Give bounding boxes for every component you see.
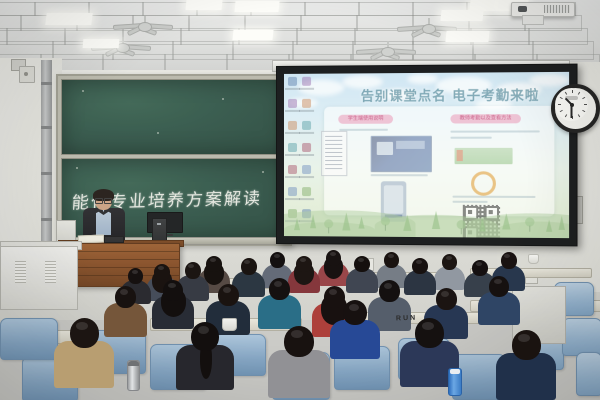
hair-highlight — [504, 254, 510, 258]
hair-highlight — [358, 258, 364, 262]
slide-tree-trunk — [529, 226, 530, 232]
classroom-photo: 能化专业培养方案解读 告别课堂点名 电子考勤来啦 学生端使用说明 — [0, 0, 600, 400]
clock-tick — [558, 104, 561, 105]
hair-highlight — [384, 283, 392, 289]
desktop-icon-label — [299, 88, 314, 90]
hair-highlight — [198, 326, 209, 334]
clock-tick — [577, 114, 579, 117]
desktop-icon[interactable] — [288, 77, 297, 86]
slide-tree-trunk — [385, 225, 386, 231]
clock-tick — [572, 90, 573, 93]
slide-tree — [403, 215, 411, 231]
fan-hub — [422, 24, 436, 34]
slide-content-card: 学生端使用说明 教师考勤以及查看方法 — [324, 106, 554, 217]
slide-context-menu — [321, 131, 347, 176]
desktop-icon-label — [285, 176, 300, 178]
wall-clock — [551, 84, 600, 133]
student-torso — [268, 350, 330, 398]
hair-highlight — [329, 289, 337, 295]
slide-tree — [342, 212, 350, 230]
ceiling-tile — [358, 2, 414, 16]
student-torso — [330, 320, 380, 359]
desktop-icon[interactable] — [302, 165, 311, 174]
student — [176, 322, 234, 396]
hair-highlight — [349, 304, 359, 311]
ceiling-light-panel — [445, 31, 489, 42]
hair-highlight — [476, 262, 482, 266]
paper-cup — [222, 318, 237, 331]
clock-tick — [577, 92, 579, 95]
empty-chair[interactable] — [562, 318, 600, 356]
student — [496, 330, 556, 400]
clock-tick — [564, 92, 566, 95]
desktop-icon-label — [285, 198, 300, 200]
slide-clouds — [284, 72, 569, 74]
slide-left-caption — [371, 174, 428, 176]
hair-highlight — [244, 260, 250, 264]
projector-vent — [544, 5, 570, 13]
desktop-icon[interactable] — [302, 187, 311, 196]
ceiling-tile — [88, 2, 144, 16]
clock-minute-hand — [571, 105, 573, 118]
desktop-icon-label — [285, 132, 300, 134]
student-torso — [496, 353, 556, 400]
desktop-icon[interactable] — [302, 121, 311, 130]
slide-tree — [559, 216, 565, 230]
ceiling-light-panel — [232, 30, 273, 40]
desktop-icon-label — [285, 88, 300, 90]
desktop-icon-label — [299, 132, 314, 134]
hair-highlight — [132, 270, 138, 274]
student — [330, 300, 380, 364]
ceiling-tile — [304, 2, 360, 16]
ceiling-light-panel — [234, 1, 279, 12]
hair-highlight — [422, 322, 434, 330]
hair-highlight — [518, 334, 530, 342]
ceiling-light-panel — [185, 0, 222, 10]
clock-face — [555, 88, 588, 121]
hair-highlight — [291, 330, 303, 338]
slide-right-note-1 — [450, 130, 539, 132]
hair-highlight — [274, 254, 280, 258]
slide-tree — [479, 217, 485, 231]
slide-right-note-2 — [450, 137, 491, 139]
hair-highlight — [120, 289, 128, 295]
desktop-icon[interactable] — [288, 143, 297, 152]
thermos-bottle — [127, 360, 140, 391]
student — [54, 318, 114, 395]
metal-cabinet — [0, 246, 78, 310]
desktop-icon[interactable] — [288, 187, 297, 196]
student — [478, 276, 520, 330]
slide-left-badge: 学生端使用说明 — [338, 115, 393, 124]
empty-chair[interactable] — [576, 352, 600, 396]
slide-tree-trunk — [328, 227, 329, 233]
fan-hub — [381, 47, 395, 57]
cable-conduit — [41, 60, 52, 255]
slide-tree — [432, 211, 440, 229]
student-torso — [54, 341, 114, 388]
slide-qr-caption-1 — [452, 196, 535, 198]
desktop-icon[interactable] — [288, 121, 297, 130]
clock-tick — [559, 110, 562, 112]
desktop-icon-label — [299, 110, 314, 112]
hair-highlight — [76, 322, 88, 330]
jacket-text: RUN — [396, 315, 417, 323]
hair-highlight — [446, 256, 452, 260]
slide-tree — [546, 220, 552, 232]
clock-tick — [564, 114, 566, 117]
wall-sensor-box — [19, 66, 35, 83]
clock-center-pin — [570, 103, 574, 107]
clock-tick — [559, 97, 562, 99]
hair-highlight — [188, 264, 194, 268]
projection-screen: 告别课堂点名 电子考勤来啦 学生端使用说明 — [284, 72, 569, 238]
slide-progress-ring — [471, 171, 496, 196]
clock-tick — [582, 110, 585, 112]
podium-notebook — [104, 236, 124, 243]
fan-hub — [138, 22, 152, 32]
hair-highlight — [300, 258, 306, 262]
hair-highlight — [388, 254, 394, 258]
desktop-icon-label — [299, 198, 314, 200]
slide-tree — [294, 218, 300, 230]
blackboard-upper-panel — [61, 79, 287, 155]
hair-highlight — [158, 266, 164, 270]
desktop-icon-label — [299, 154, 314, 156]
hair-highlight — [441, 291, 449, 297]
clock-tick — [582, 97, 585, 99]
student — [268, 326, 330, 400]
desktop-icon[interactable] — [288, 99, 297, 108]
chair-back — [0, 318, 58, 360]
student-torso — [258, 295, 301, 329]
cloud — [407, 74, 438, 84]
desktop-icon[interactable] — [288, 165, 297, 174]
hair-highlight — [168, 283, 176, 288]
water-bottle — [448, 368, 462, 396]
paper-cup — [528, 254, 539, 264]
student — [318, 250, 349, 290]
hair-highlight — [223, 287, 231, 293]
hair-highlight — [330, 252, 336, 256]
ceiling-light-panel — [83, 39, 120, 48]
ceiling-light-panel — [440, 10, 483, 21]
desktop-icon[interactable] — [302, 143, 311, 152]
hair-highlight — [416, 260, 422, 264]
glasses-icon — [95, 198, 112, 202]
slide-landscape — [284, 202, 569, 238]
slide-title: 告别课堂点名 电子考勤来啦 — [336, 84, 565, 105]
desktop-icon[interactable] — [302, 77, 311, 86]
projector-mount — [522, 15, 544, 25]
desktop-icon-label — [285, 110, 300, 112]
slide-screenshot-image — [371, 136, 432, 173]
slide-attendance-widget — [455, 148, 513, 164]
ceiling-light-panel — [45, 13, 92, 25]
desktop-icon[interactable] — [302, 99, 311, 108]
desktop-icon-label — [285, 154, 300, 156]
clock-tick — [584, 104, 587, 105]
desktop-icon-label — [299, 176, 314, 178]
slide-right-badge: 教师考勤以及查看方法 — [450, 114, 520, 123]
ceiling-tile — [0, 2, 36, 16]
hair-highlight — [210, 258, 216, 262]
hair-highlight — [274, 281, 282, 287]
slide-tree — [502, 213, 510, 229]
slide-tree-trunk — [461, 228, 462, 234]
projector-lens — [518, 6, 527, 12]
hair-highlight — [494, 279, 502, 284]
slide-tree — [358, 216, 364, 228]
slide-tree — [310, 214, 316, 228]
projection-screen-frame: 告别课堂点名 电子考勤来啦 学生端使用说明 — [276, 64, 578, 247]
